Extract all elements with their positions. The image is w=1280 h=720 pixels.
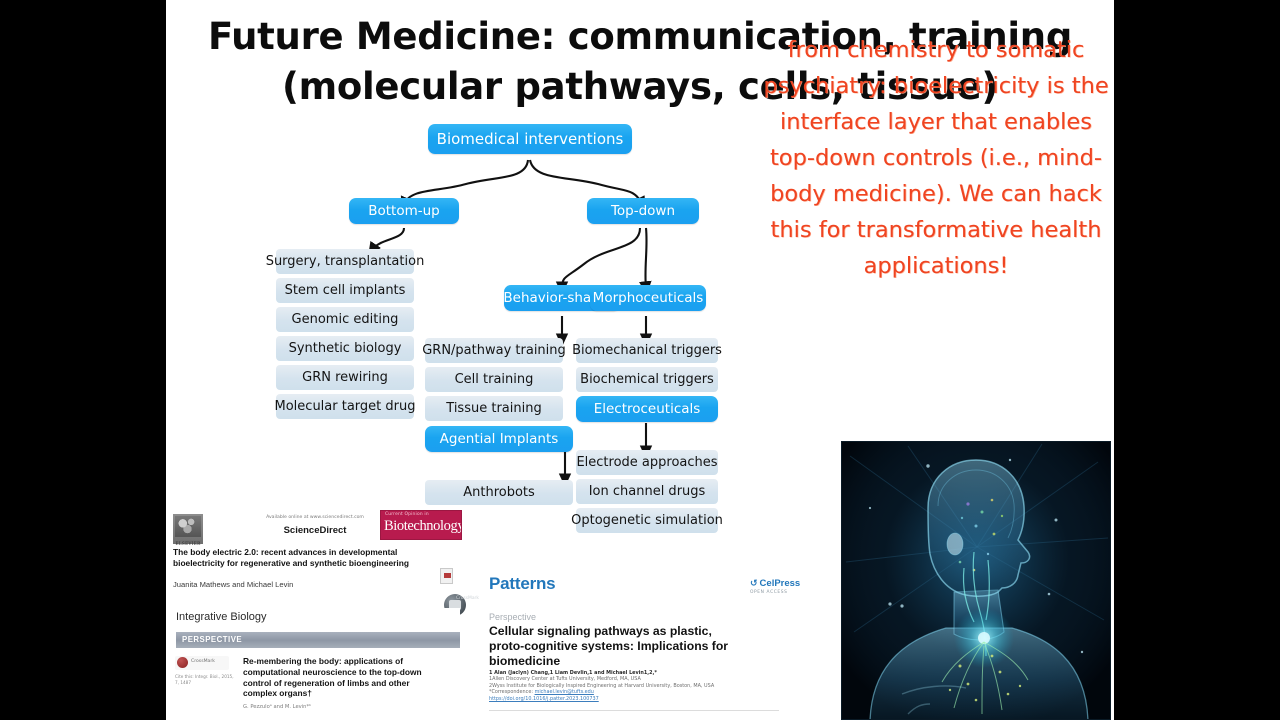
list-item[interactable]: Synthetic biology	[276, 336, 414, 361]
node-label: Molecular target drug	[275, 399, 416, 414]
cellpress-mark-icon: ↺	[750, 579, 758, 589]
cellpress-logo: ↺ CelPress OPEN ACCESS	[750, 578, 828, 595]
node-label: Cell training	[455, 372, 534, 387]
node-label: Synthetic biology	[289, 341, 402, 356]
node-biomedical-interventions[interactable]: Biomedical interventions	[428, 124, 632, 154]
list-item[interactable]: Genomic editing	[276, 307, 414, 332]
paper-authors: G. Pezzuloᵃ and M. Levin*ᵇ	[243, 704, 311, 710]
list-item[interactable]: Surgery, transplantation	[276, 249, 414, 274]
article-type: Perspective	[489, 612, 536, 622]
list-item[interactable]: Optogenetic simulation	[576, 508, 718, 533]
paper-title: Cellular signaling pathways as plastic, …	[489, 624, 739, 669]
bioelectric-body-image	[841, 441, 1111, 720]
elsevier-logo-icon	[173, 514, 203, 544]
node-label: Surgery, transplantation	[266, 254, 425, 269]
list-item[interactable]: Ion channel drugs	[576, 479, 718, 504]
node-label: Stem cell implants	[285, 283, 406, 298]
badge-title: Biotechnology	[384, 518, 462, 535]
citation-patterns: Patterns ↺ CelPress OPEN ACCESS Perspect…	[484, 570, 784, 720]
list-item[interactable]: Molecular target drug	[276, 394, 414, 419]
node-anthrobots[interactable]: Anthrobots	[425, 480, 573, 505]
list-item[interactable]: GRN/pathway training	[425, 338, 563, 363]
diagram-connectors	[166, 118, 746, 538]
list-item[interactable]: Biochemical triggers	[576, 367, 718, 392]
elsevier-wordmark: ELSEVIER	[171, 541, 205, 546]
sciencedirect-header: ELSEVIER Available online at www.science…	[168, 512, 460, 546]
node-bottom-up[interactable]: Bottom-up	[349, 198, 459, 224]
available-online-text: Available online at www.sciencedirect.co…	[240, 515, 390, 520]
cellpress-wordmark: CelPress	[760, 578, 801, 589]
list-item[interactable]: Electrode approaches	[576, 450, 718, 475]
node-morphoceuticals[interactable]: Morphoceuticals	[590, 285, 706, 311]
intervention-hierarchy-diagram: Biomedical interventions Bottom-up Top-d…	[166, 118, 746, 538]
paper-authors: Juanita Mathews and Michael Levin	[173, 580, 293, 589]
affiliation-2: 2Wyss Institute for Biologically Inspire…	[489, 683, 714, 689]
node-label: Biomedical interventions	[437, 130, 624, 148]
paper-authors: 1 Alan (Jaclyn) Chang,1 Liam Devlin,1 an…	[489, 670, 657, 676]
node-label: Optogenetic simulation	[571, 513, 723, 528]
list-item[interactable]: Biomechanical triggers	[576, 338, 718, 363]
section-label: PERSPECTIVE	[182, 635, 242, 644]
divider	[489, 710, 779, 711]
paper-title: Re-membering the body: applications of c…	[243, 656, 443, 699]
current-opinion-biotechnology-badge: Current Opinion in Biotechnology	[380, 510, 462, 540]
journal-name: Patterns	[489, 574, 555, 594]
affiliation-1: 1Allen Discovery Center at Tufts Univers…	[489, 676, 641, 682]
node-label: Bottom-up	[368, 203, 440, 219]
open-access-label: OPEN ACCESS	[750, 590, 828, 595]
node-top-down[interactable]: Top-down	[587, 198, 699, 224]
node-label: Top-down	[611, 203, 675, 219]
list-item[interactable]: Stem cell implants	[276, 278, 414, 303]
node-label: Electrode approaches	[576, 455, 717, 470]
crossmark-label: CrossMark	[456, 596, 479, 601]
node-label: Biomechanical triggers	[572, 343, 722, 358]
paper-title: The body electric 2.0: recent advances i…	[173, 547, 425, 568]
screen: Future Medicine: communication, training…	[0, 0, 1280, 720]
node-label: Biochemical triggers	[580, 372, 714, 387]
list-item[interactable]: Cell training	[425, 367, 563, 392]
node-label: GRN/pathway training	[422, 343, 566, 358]
node-label: Morphoceuticals	[593, 290, 704, 306]
node-electroceuticals[interactable]: Electroceuticals	[576, 396, 718, 422]
node-label: Agential Implants	[440, 431, 559, 447]
node-label: GRN rewiring	[302, 370, 388, 385]
node-label: Genomic editing	[292, 312, 399, 327]
citation-integrative-biology: Integrative Biology PERSPECTIVE CrossMar…	[168, 608, 460, 720]
correspondence-email[interactable]: michael.levin@tufts.edu	[535, 689, 594, 695]
sciencedirect-brand: ScienceDirect	[240, 525, 390, 536]
commentary-text: from chemistry to somatic psychiatry: bi…	[761, 32, 1111, 284]
presentation-slide: Future Medicine: communication, training…	[166, 0, 1114, 720]
node-label: Ion channel drugs	[589, 484, 706, 499]
list-item[interactable]: GRN rewiring	[276, 365, 414, 390]
body-illustration	[842, 442, 1111, 720]
journal-name: Integrative Biology	[176, 611, 267, 623]
node-agential-implants[interactable]: Agential Implants	[425, 426, 573, 452]
citation-meta: Cite this: Integr. Biol., 2015, 7, 1487	[175, 674, 235, 685]
section-banner: PERSPECTIVE	[176, 632, 460, 648]
list-item[interactable]: Tissue training	[425, 396, 563, 421]
doi-link[interactable]: https://doi.org/10.1016/j.patter.2023.10…	[489, 696, 599, 702]
node-label: Electroceuticals	[594, 401, 701, 417]
correspondence-label: *Correspondence:	[489, 689, 533, 695]
crossmark-label: CrossMark	[191, 659, 215, 664]
paper-authors-block: 1 Alan (Jaclyn) Chang,1 Liam Devlin,1 an…	[489, 670, 729, 702]
node-label: Anthrobots	[463, 485, 535, 500]
crossmark-dot-icon	[177, 657, 188, 668]
node-label: Tissue training	[446, 401, 541, 416]
paper-thumbnail	[440, 568, 453, 584]
crossmark-badge: CrossMark	[175, 656, 229, 670]
citation-sciencedirect: ELSEVIER Available online at www.science…	[168, 512, 460, 607]
badge-small-label: Current Opinion in	[385, 512, 429, 517]
